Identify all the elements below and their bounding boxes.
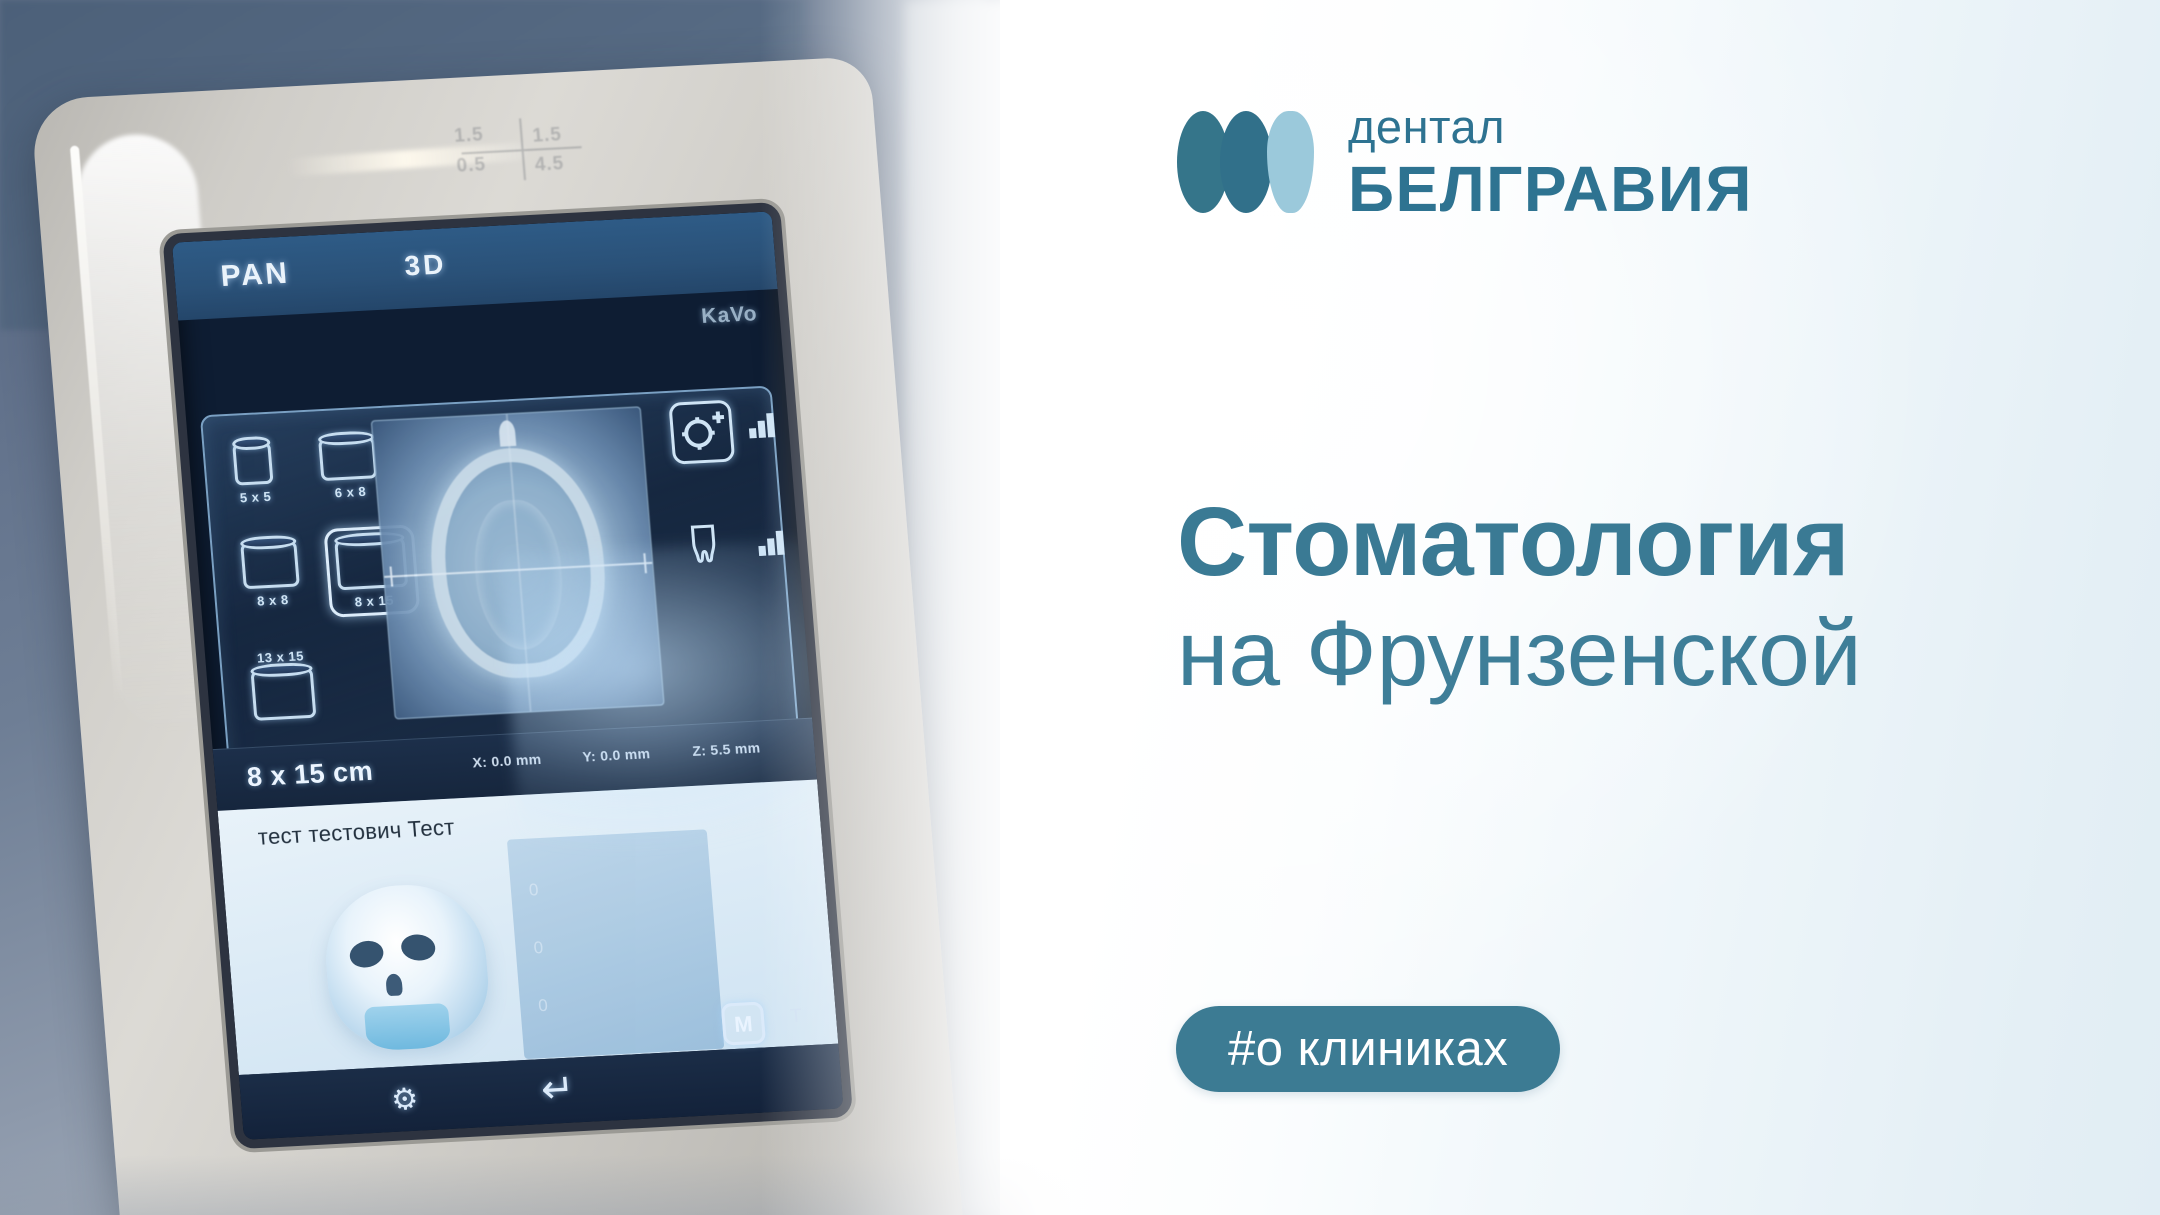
tab-3d[interactable]: 3D	[403, 248, 447, 282]
fov-label-6x8: 6 x 8	[322, 483, 379, 501]
fov-glyph-8x8	[240, 540, 300, 589]
fov-glyph-5x5	[232, 442, 273, 486]
orbit-right	[400, 933, 436, 962]
mandible-3d	[364, 1003, 451, 1051]
mode-label-t: T	[790, 1006, 803, 1029]
bezel-mark-1: 1.5	[453, 124, 484, 147]
clinic-equipment-photo: 1.5 0.5 1.5 4.5 PAN 3D KaVo	[0, 0, 1070, 1215]
mode-badge-m[interactable]: M	[721, 1002, 766, 1046]
logo-text-dental: дентал	[1348, 103, 1753, 150]
bar-steps-icon	[743, 407, 780, 443]
axial-scout-image[interactable]	[371, 406, 665, 719]
bezel-mark-2: 0.5	[456, 154, 487, 177]
fov-button-13x15[interactable]: 13 x 15	[249, 648, 317, 721]
nasal-aperture	[385, 973, 403, 996]
secondary-preview-thumb[interactable]: 0 0 0	[507, 829, 724, 1059]
logo-mark-icon	[1177, 111, 1314, 213]
enter-return-icon[interactable]: ↵	[539, 1066, 576, 1114]
thumb-row-2: 0	[533, 938, 544, 958]
fov-glyph-13x15	[251, 668, 317, 721]
bezel-calibration-marks: 1.5 0.5 1.5 4.5	[453, 119, 587, 182]
offset-x-value: X: 0.0 mm	[472, 751, 542, 771]
logo-ellipse-2	[1220, 111, 1272, 213]
headline-line-1: Стоматология	[1177, 490, 1862, 595]
hashtag-badge[interactable]: #о клиниках	[1176, 1006, 1560, 1092]
dose-level-icon-1[interactable]	[743, 407, 780, 448]
skull-3d-render[interactable]	[320, 881, 493, 1049]
headline-line-2: на Фрунзенской	[1177, 601, 1862, 705]
thumb-row-1: 0	[528, 880, 539, 900]
bezel-mark-4: 4.5	[534, 153, 565, 176]
fov-label-8x8: 8 x 8	[244, 591, 301, 609]
logo-wordmark: дентал БЕЛГРАВИЯ	[1348, 103, 1753, 221]
device-touchscreen[interactable]: PAN 3D KaVo 5 x 5	[172, 211, 844, 1140]
page-title: Стоматология на Фрунзенской	[1177, 490, 1862, 705]
tooth-icon[interactable]	[682, 520, 726, 571]
bezel-mark-3: 1.5	[532, 124, 563, 147]
fov-glyph-6x8	[318, 436, 377, 481]
selected-fov-value: 8 x 15 cm	[246, 756, 374, 794]
fov-button-5x5[interactable]: 5 x 5	[232, 442, 275, 506]
target-crosshair-icon	[672, 403, 732, 462]
screen-main-area: 5 x 5 6 x 8 8 x 8	[178, 289, 812, 749]
thumb-row-3: 0	[538, 996, 549, 1016]
brand-logo[interactable]: дентал БЕЛГРАВИЯ	[1177, 103, 1753, 221]
offset-z-value: Z: 5.5 mm	[692, 739, 761, 759]
fov-lid-icon	[232, 436, 271, 451]
bar-steps-icon	[753, 525, 790, 561]
tooth-glyph-icon	[682, 520, 725, 566]
cbct-scanner-device: 1.5 0.5 1.5 4.5 PAN 3D KaVo	[30, 54, 1005, 1215]
fov-button-6x8[interactable]: 6 x 8	[318, 436, 379, 501]
orbit-left	[347, 937, 387, 971]
patient-name: тест тестович Тест	[257, 815, 456, 851]
fov-button-8x8[interactable]: 8 x 8	[240, 540, 301, 609]
gear-icon[interactable]: ⚙	[390, 1082, 420, 1118]
logo-text-belgravia: БЕЛГРАВИЯ	[1348, 157, 1753, 221]
fov-label-5x5: 5 x 5	[236, 489, 275, 506]
offset-y-value: Y: 0.0 mm	[582, 745, 651, 764]
promo-banner: 1.5 0.5 1.5 4.5 PAN 3D KaVo	[0, 0, 2160, 1215]
reposition-target-button[interactable]	[668, 400, 735, 465]
dose-level-icon-2[interactable]	[753, 525, 790, 566]
tab-pan[interactable]: PAN	[219, 257, 290, 294]
logo-leaf-3	[1267, 111, 1314, 213]
